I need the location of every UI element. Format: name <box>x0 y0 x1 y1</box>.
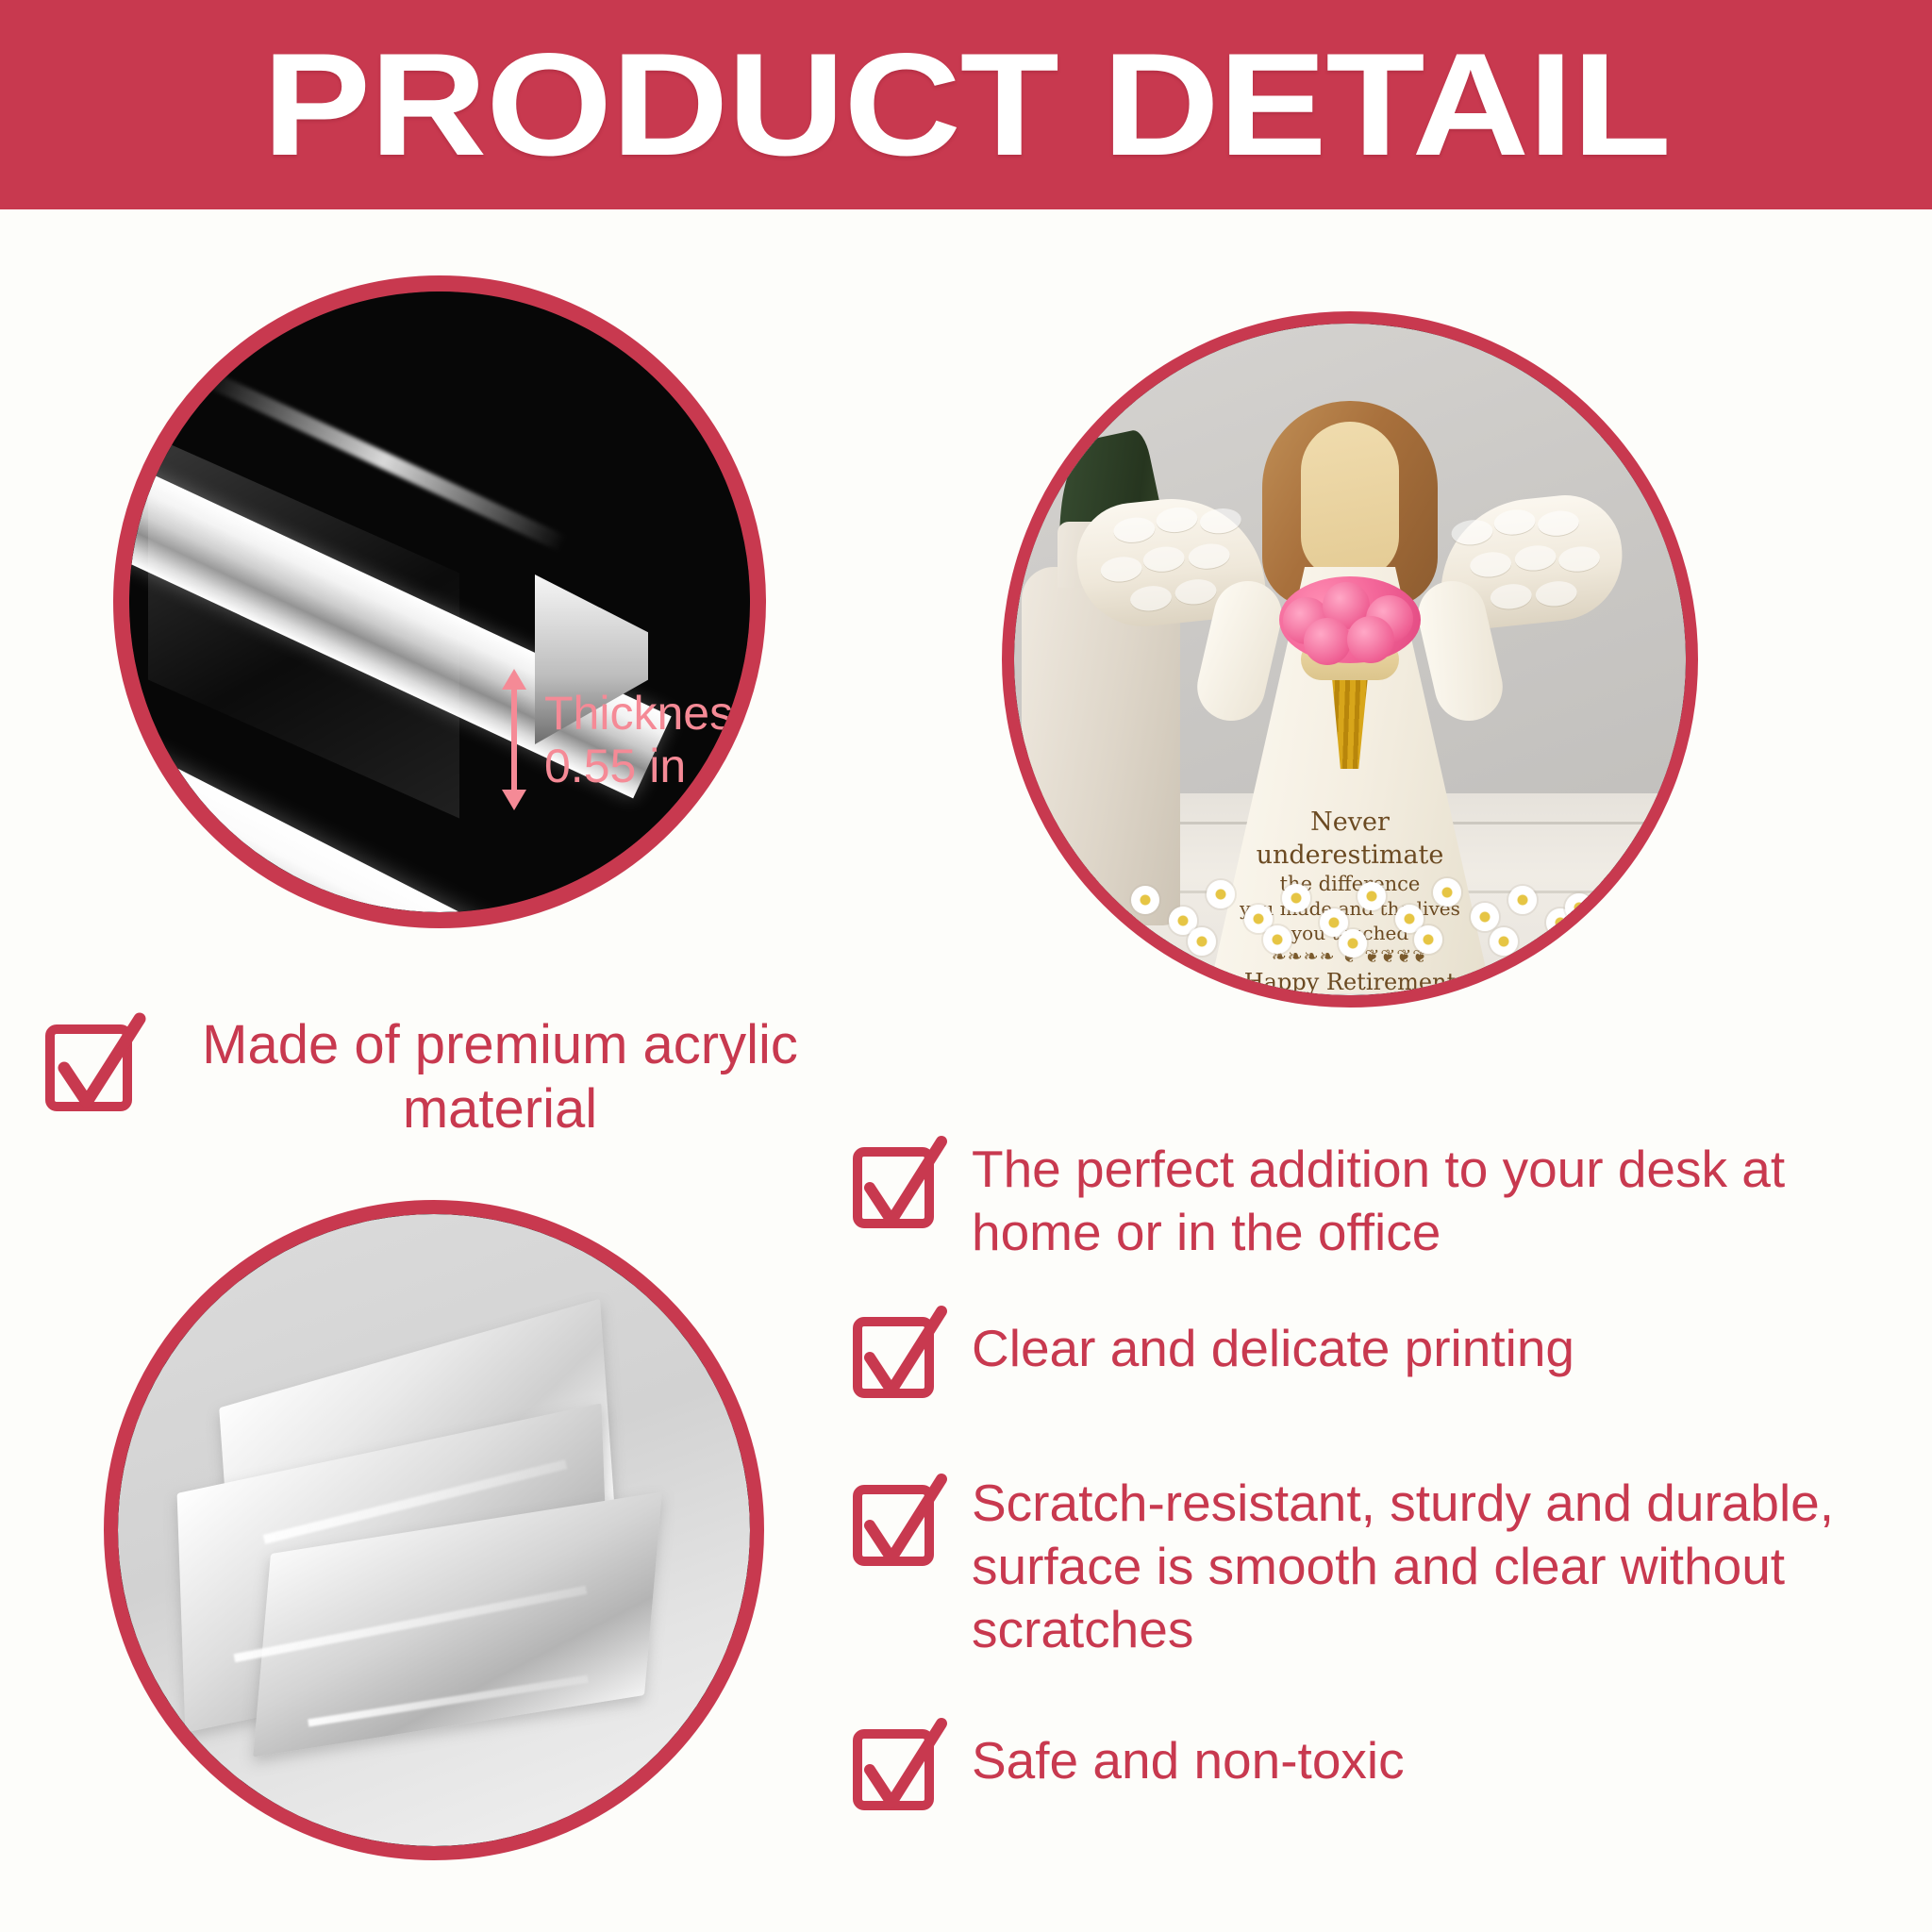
thickness-annotation: Thickness 0.55 in <box>499 669 750 810</box>
daisy-flowers <box>1086 861 1614 952</box>
checkbox-checked-icon <box>42 1015 145 1121</box>
angel-figurine-image: Never underestimate the difference you m… <box>1014 324 1686 995</box>
inscription-line-1: Never <box>1208 807 1491 840</box>
checkbox-checked-icon <box>849 1720 947 1820</box>
rose-bouquet <box>1279 576 1421 663</box>
bullet-premium-material: Made of premium acrylic material <box>42 1009 834 1142</box>
feature-list: The perfect addition to your desk at hom… <box>849 1128 1915 1863</box>
checkbox-checked-icon <box>849 1138 947 1238</box>
angel-face <box>1301 422 1399 578</box>
feature-item-safe-nontoxic: Safe and non-toxic <box>849 1720 1915 1820</box>
feature-item-clear-printing: Clear and delicate printing <box>849 1307 1915 1407</box>
checkbox-checked-icon <box>849 1307 947 1407</box>
thickness-label: Thickness 0.55 in <box>544 687 750 792</box>
thickness-label-line2: 0.55 in <box>544 740 750 792</box>
page-title: PRODUCT DETAIL <box>262 32 1670 178</box>
acrylic-stack-photo-circle <box>104 1200 764 1860</box>
bullet-premium-material-label: Made of premium acrylic material <box>166 1009 834 1142</box>
inscription-line-6: Happy Retirement <box>1208 968 1491 995</box>
acrylic-edge-photo-circle: Thickness 0.55 in <box>113 275 766 928</box>
header-banner: PRODUCT DETAIL <box>0 0 1932 209</box>
double-arrow-vertical-icon <box>499 669 527 810</box>
checkbox-checked-icon <box>849 1475 947 1575</box>
feature-label: Safe and non-toxic <box>972 1720 1405 1792</box>
feature-label: The perfect addition to your desk at hom… <box>972 1128 1915 1264</box>
thickness-label-line1: Thickness <box>544 687 750 740</box>
angel-figurine-photo-circle: Never underestimate the difference you m… <box>1002 311 1698 1008</box>
feature-item-desk-addition: The perfect addition to your desk at hom… <box>849 1128 1915 1264</box>
acrylic-edge-image: Thickness 0.55 in <box>129 291 750 912</box>
feature-label: Scratch-resistant, sturdy and durable, s… <box>972 1462 1915 1661</box>
acrylic-slab-face <box>148 435 459 819</box>
acrylic-stack-image <box>118 1214 750 1846</box>
feature-item-scratch-resistant: Scratch-resistant, sturdy and durable, s… <box>849 1462 1915 1661</box>
feature-label: Clear and delicate printing <box>972 1307 1574 1380</box>
